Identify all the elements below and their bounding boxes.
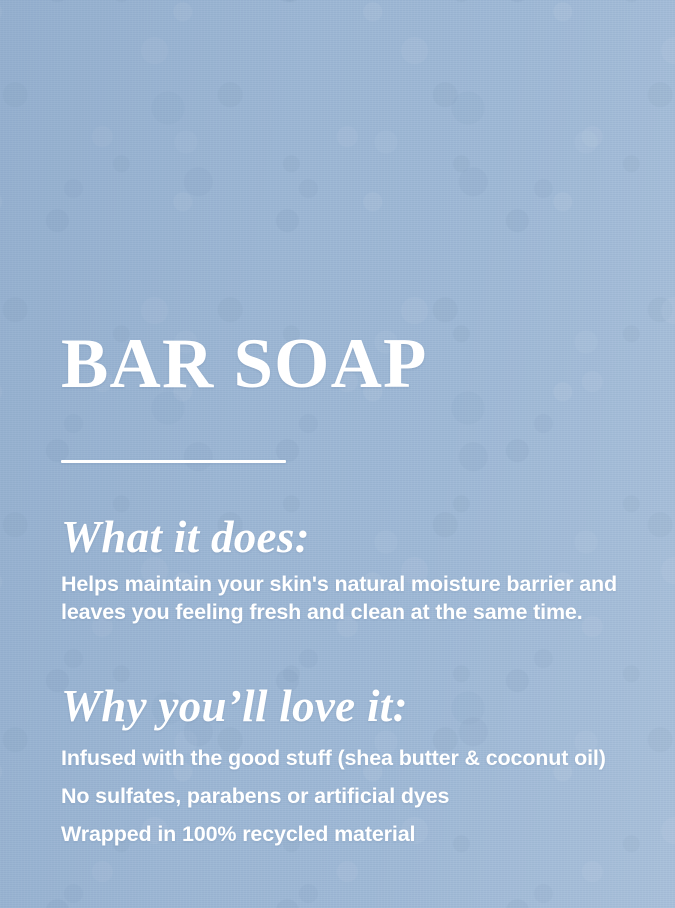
section-heading-why-youll-love-it: Why you’ll love it: [61,684,646,730]
section-heading-what-it-does: What it does: [61,515,646,561]
list-item: Wrapped in 100% recycled material [61,815,646,853]
title-divider-rule [61,460,286,463]
page-title: BAR SOAP [61,329,428,400]
what-it-does-description: Helps maintain your skin's natural moist… [61,570,636,626]
list-item: No sulfates, parabens or artificial dyes [61,777,646,815]
list-item: Infused with the good stuff (shea butter… [61,739,646,777]
product-poster: BAR SOAP What it does: Helps maintain yo… [0,0,675,908]
section-what-it-does: What it does: Helps maintain your skin's… [61,515,646,626]
feature-benefit-list: Infused with the good stuff (shea butter… [61,739,646,853]
poster-content: BAR SOAP What it does: Helps maintain yo… [61,0,646,908]
section-why-youll-love-it: Why you’ll love it: Infused with the goo… [61,684,646,853]
